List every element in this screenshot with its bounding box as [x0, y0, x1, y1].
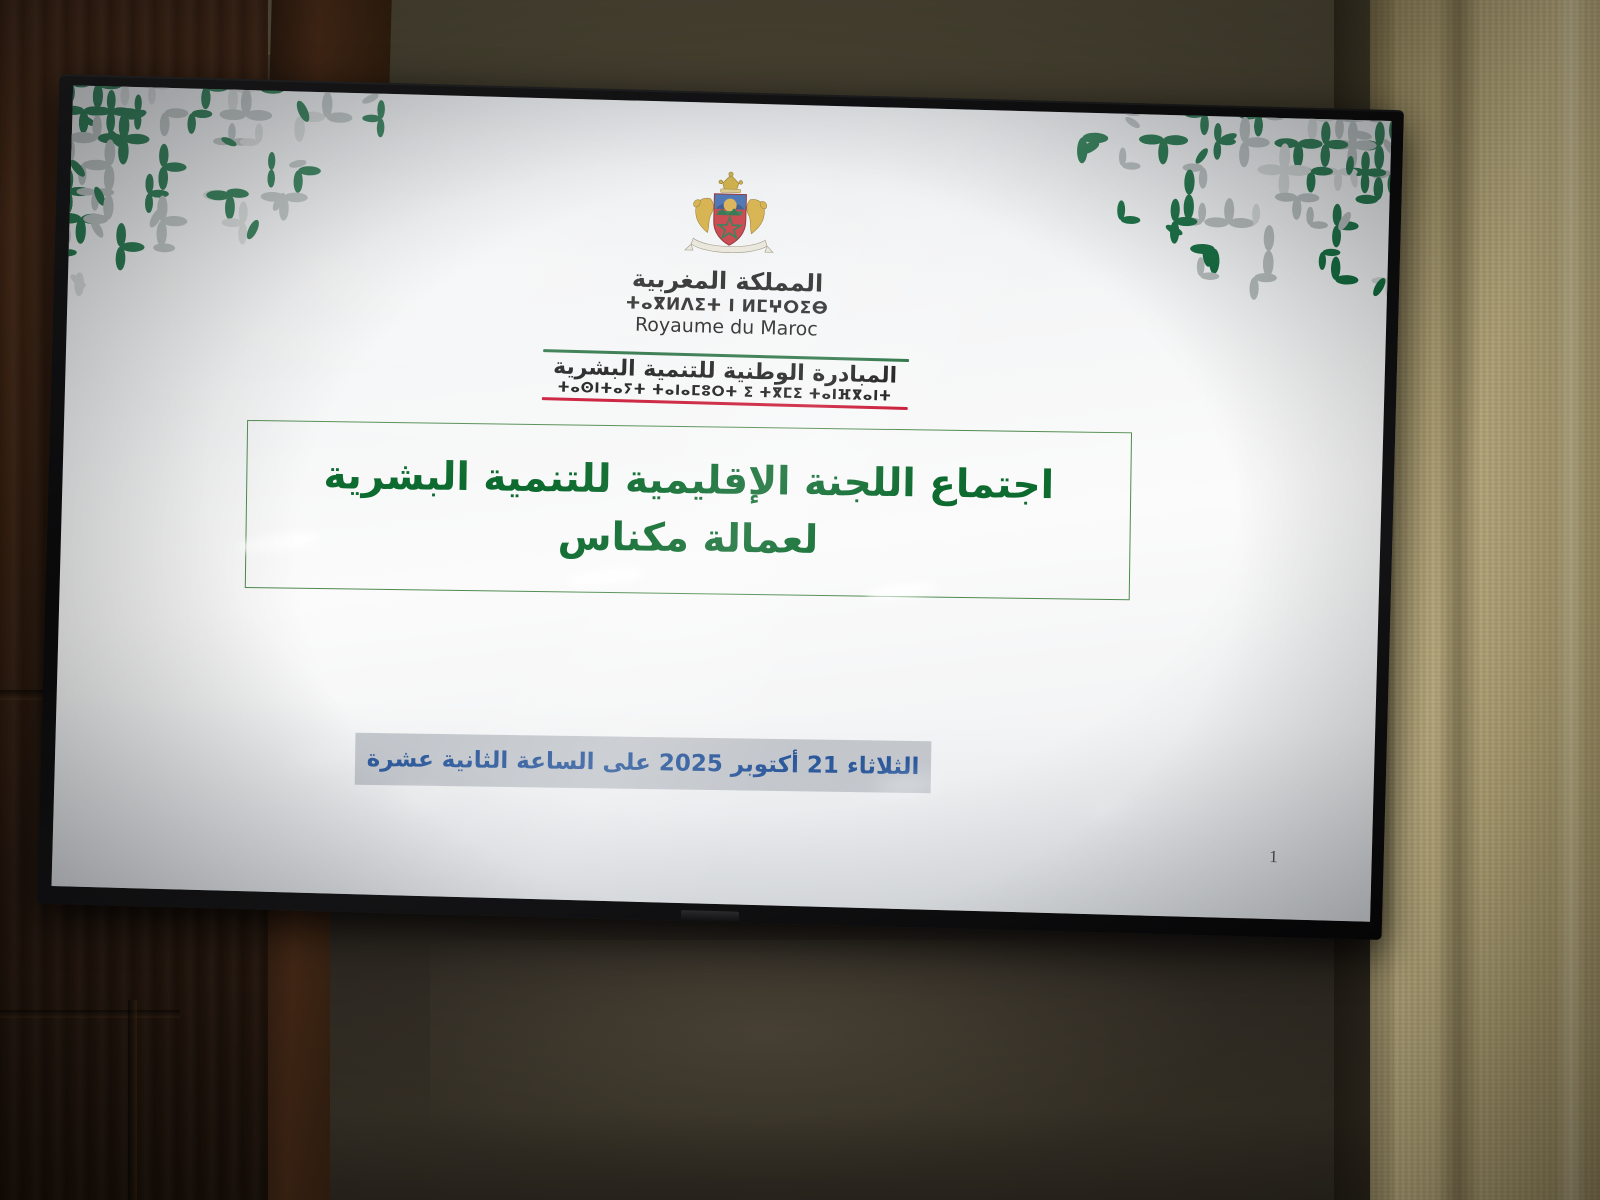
room-background: المملكة المغربية ⵜⴰⴳⵍⴷⵉⵜ ⵏ ⵍⵎⵖⵔⵉⴱ Royaum…: [0, 0, 1600, 1200]
moroccan-coat-of-arms-icon: [668, 170, 790, 265]
slide-header: المملكة المغربية ⵜⴰⴳⵍⴷⵉⵜ ⵏ ⵍⵎⵖⵔⵉⴱ Royaum…: [65, 153, 1390, 427]
tv-bezel: المملكة المغربية ⵜⴰⴳⵍⴷⵉⵜ ⵏ ⵍⵎⵖⵔⵉⴱ Royaum…: [37, 74, 1404, 940]
window-curtain: [1370, 0, 1600, 1200]
curtain-fold-shadow: [1436, 0, 1480, 1200]
slide-title-box: اجتماع اللجنة الإقليمية للتنمية البشرية …: [245, 420, 1132, 600]
slide-title: اجتماع اللجنة الإقليمية للتنمية البشرية …: [246, 445, 1131, 574]
meeting-date-text: الثلاثاء 21 أكتوبر 2025 على الساعة الثان…: [367, 746, 920, 780]
meeting-date-banner: الثلاثاء 21 أكتوبر 2025 على الساعة الثان…: [355, 733, 932, 794]
indh-logo: المبادرة الوطنية للتنمية البشرية ⵜⴰⵙⵏⵜⴰⵢ…: [541, 346, 908, 414]
slide-page-number: 1: [1269, 847, 1278, 867]
wood-panel-seam-lower: [0, 1010, 180, 1018]
tv-screen: المملكة المغربية ⵜⴰⴳⵍⴷⵉⵜ ⵏ ⵍⵎⵖⵔⵉⴱ Royaum…: [52, 85, 1392, 921]
lower-wall-glow: [430, 940, 1230, 1180]
wall-mounted-television: المملكة المغربية ⵜⴰⴳⵍⴷⵉⵜ ⵏ ⵍⵎⵖⵔⵉⴱ Royaum…: [37, 74, 1404, 940]
wood-panel-vertical-seam: [128, 1000, 137, 1200]
curtain-fold-highlight: [1556, 0, 1586, 1200]
presentation-slide: المملكة المغربية ⵜⴰⴳⵍⴷⵉⵜ ⵏ ⵍⵎⵖⵔⵉⴱ Royaum…: [52, 85, 1392, 921]
